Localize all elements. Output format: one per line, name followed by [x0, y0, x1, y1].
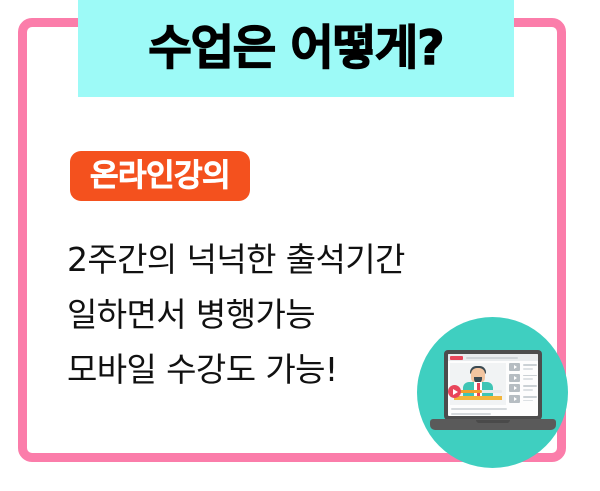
presenter-desk-icon	[454, 396, 502, 400]
playlist-meta-line	[523, 385, 538, 387]
body-line-1: 2주간의 넉넉한 출석기간	[67, 232, 487, 287]
caption-line	[451, 413, 491, 415]
playlist-play-icon	[509, 384, 520, 392]
playlist-play-icon	[509, 374, 520, 382]
playlist-item-meta	[523, 363, 538, 370]
video-caption-lines	[451, 408, 507, 416]
online-lecture-illustration	[417, 317, 568, 468]
play-button-icon	[448, 385, 461, 398]
badge-label: 온라인강의	[90, 161, 230, 192]
status-badge: 온라인강의	[70, 151, 250, 201]
playlist-meta-line	[523, 389, 533, 391]
playlist-item	[509, 374, 537, 382]
promo-poster: 수업은 어떻게? 온라인강의 2주간의 넉넉한 출석기간 일하면서 병행가능 모…	[0, 0, 600, 491]
playlist-meta-line	[523, 364, 538, 366]
playlist-item	[509, 363, 537, 371]
playlist-meta-line	[523, 368, 533, 370]
laptop-trackpad-notch	[476, 420, 510, 423]
video-player-pane	[450, 363, 506, 405]
browser-tab-icon	[450, 356, 463, 360]
playlist-play-icon	[509, 395, 520, 403]
playlist-meta-line	[523, 378, 533, 380]
playlist-item-meta	[523, 384, 538, 391]
laptop-screen	[448, 354, 538, 416]
playlist-meta-line	[523, 396, 538, 398]
playlist-play-icon	[509, 363, 520, 371]
playlist-meta-line	[523, 375, 538, 377]
video-playlist	[509, 363, 537, 405]
playlist-item	[509, 395, 537, 403]
laptop-icon	[430, 350, 556, 434]
browser-address-bar	[466, 357, 518, 359]
playlist-item-meta	[523, 374, 538, 381]
caption-line	[451, 408, 507, 410]
playlist-meta-line	[523, 400, 533, 402]
playlist-item	[509, 384, 537, 392]
title-banner: 수업은 어떻게?	[78, 0, 514, 97]
laptop-lid	[444, 350, 542, 420]
playlist-item-meta	[523, 395, 538, 402]
page-title: 수업은 어떻게?	[148, 25, 443, 72]
